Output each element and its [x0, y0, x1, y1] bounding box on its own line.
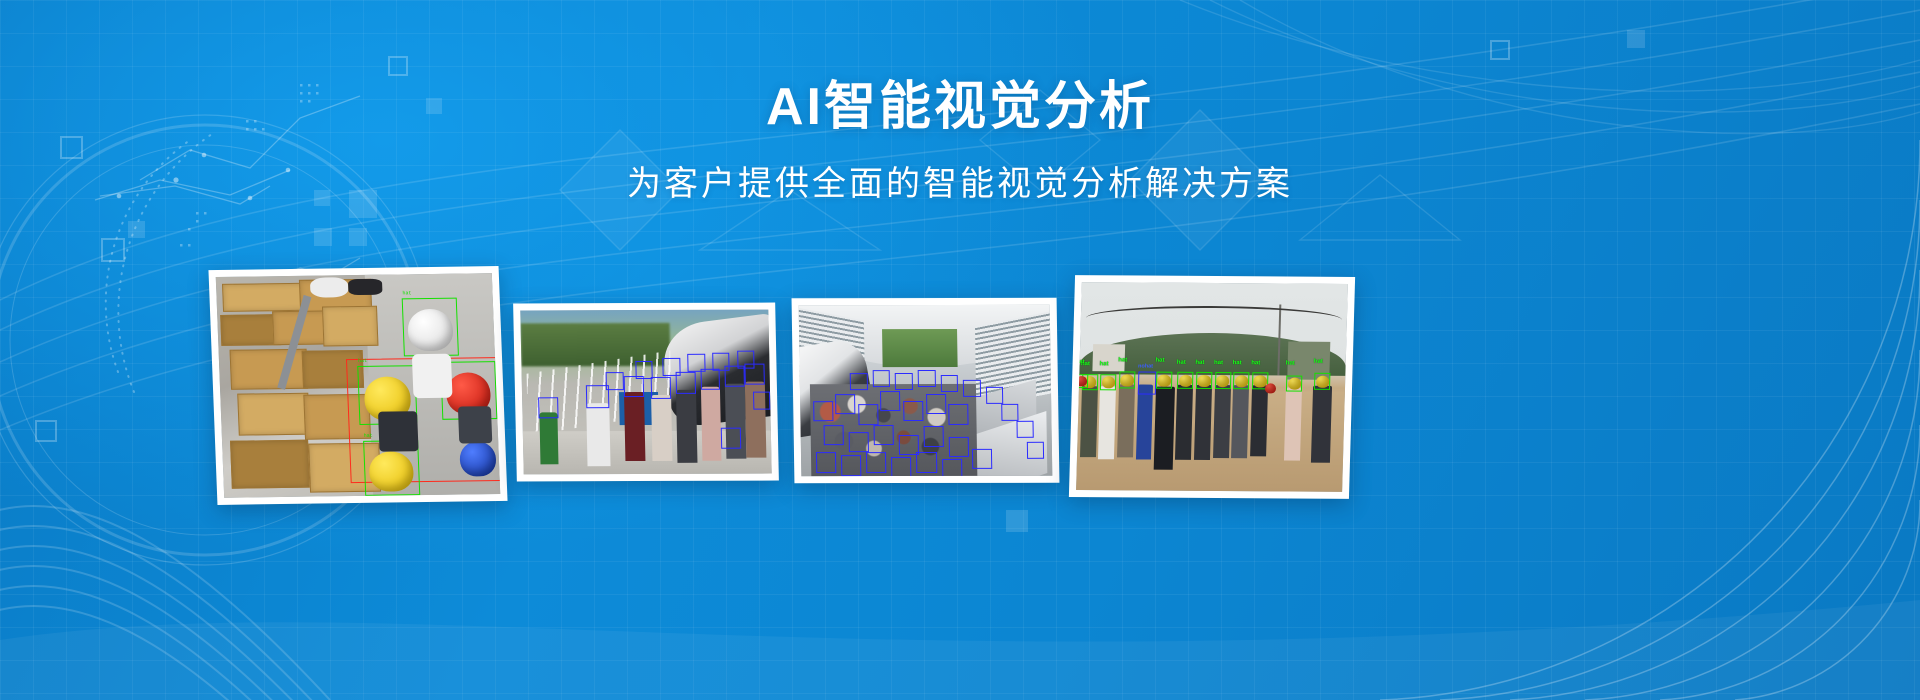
detection-box-head	[986, 387, 1004, 404]
detection-label-no-hat: nohat	[1138, 364, 1153, 370]
detection-box-head	[903, 401, 923, 422]
hatch-sweep-left	[0, 506, 330, 700]
detection-box-hat	[1076, 374, 1089, 389]
photo-1-content: hat hat hat hat	[216, 273, 501, 498]
detection-label: hat	[358, 357, 367, 363]
detection-label: hat	[1233, 360, 1242, 366]
detection-label: hat	[1286, 360, 1295, 366]
detection-box-head	[942, 459, 962, 476]
detection-box-no-hat	[1137, 372, 1156, 395]
detection-box-head	[538, 397, 558, 418]
worker	[1311, 386, 1332, 463]
photo-2-content	[520, 310, 771, 475]
detection-box-head	[873, 425, 893, 446]
detection-label: hat	[1099, 361, 1108, 367]
pedestrian	[624, 392, 645, 461]
bottom-wave	[0, 600, 1920, 700]
detection-label: hat	[1251, 360, 1260, 366]
white-bin	[310, 277, 349, 297]
detection-box-head	[1016, 421, 1034, 438]
detection-label: hat	[1118, 357, 1127, 363]
detection-box-head	[687, 354, 705, 372]
detection-box-hat	[1215, 372, 1231, 389]
detection-box-hat	[1314, 373, 1330, 390]
background-foliage	[882, 329, 958, 367]
photo-4-content: hat hat hat nohat hat hat hat	[1076, 282, 1348, 492]
detection-box-head	[606, 372, 624, 390]
page-subtitle: 为客户提供全面的智能视觉分析解决方案	[0, 164, 1920, 205]
pedestrian	[587, 404, 611, 466]
detection-label: hat	[364, 433, 373, 439]
worker-body	[378, 411, 418, 451]
worker-foreground	[1154, 387, 1175, 470]
detection-box-hat	[1100, 374, 1116, 391]
worker	[1175, 385, 1193, 460]
detection-box-head	[866, 452, 886, 473]
detection-box-head	[816, 452, 836, 473]
worker	[1250, 385, 1268, 456]
detection-label: hat	[1214, 360, 1223, 366]
detection-box-head	[895, 373, 913, 390]
detection-box-head	[753, 392, 771, 410]
detection-box-head	[841, 456, 861, 477]
detection-box-head	[721, 428, 741, 449]
detection-box-head	[924, 426, 944, 447]
detection-label: hat	[1155, 357, 1164, 363]
detection-label: hat	[402, 291, 411, 297]
photo-3-content	[799, 305, 1053, 476]
worker	[1098, 386, 1116, 459]
gallery-photo-3[interactable]	[792, 298, 1060, 483]
dark-object	[348, 279, 382, 295]
detection-box-hat	[1196, 372, 1212, 389]
worker	[1284, 388, 1302, 461]
detection-box-head	[963, 380, 981, 397]
detection-box-hat	[1233, 373, 1249, 390]
detection-box-head	[949, 437, 969, 458]
detection-box-hat	[1286, 375, 1302, 392]
detection-label: hat	[1177, 360, 1186, 366]
hard-hat-red	[1265, 383, 1276, 393]
worker	[1135, 384, 1153, 459]
detection-box-head	[918, 370, 936, 387]
detection-box-head	[835, 394, 855, 415]
detection-box-head	[712, 352, 730, 370]
detection-box-head	[1027, 442, 1045, 459]
detection-box-hat	[1119, 372, 1135, 389]
pedestrian	[676, 390, 697, 462]
worker	[1117, 384, 1135, 457]
detection-box-head	[823, 425, 843, 446]
gallery-photo-4[interactable]: hat hat hat nohat hat hat hat	[1069, 275, 1355, 499]
square-fill-8	[1627, 30, 1645, 48]
detection-box-head	[972, 449, 992, 470]
helmet-blue	[460, 441, 497, 477]
detection-box-head	[651, 377, 671, 398]
worker-body	[412, 353, 452, 398]
detection-box-head	[848, 432, 868, 453]
detection-box-head	[891, 457, 911, 476]
pedestrian	[540, 412, 558, 465]
gallery-photo-2[interactable]	[513, 303, 779, 482]
square-outline-5	[1490, 40, 1510, 60]
carton	[230, 349, 309, 390]
hero-text-block: AI智能视觉分析 为客户提供全面的智能视觉分析解决方案	[0, 78, 1920, 205]
detection-box-head	[872, 370, 890, 387]
detection-box-head	[948, 404, 968, 425]
gallery-photo-1[interactable]: hat hat hat hat	[208, 266, 507, 505]
square-fill-1	[128, 221, 145, 238]
photo-gallery: hat hat hat hat	[0, 258, 1920, 518]
detection-box-head	[813, 401, 833, 422]
detection-label: hat	[1076, 359, 1085, 365]
pedestrian	[700, 387, 721, 461]
detection-box-head	[858, 404, 878, 425]
carton	[237, 393, 310, 436]
detection-box-head	[1001, 404, 1019, 421]
worker	[1194, 385, 1212, 460]
worker	[1213, 385, 1231, 458]
square-outline-3	[388, 56, 408, 76]
detection-box-head	[737, 351, 755, 369]
detection-box-head	[850, 373, 868, 390]
detection-box-head	[940, 375, 958, 392]
detection-box-head	[926, 394, 946, 415]
detection-label: hat	[1195, 360, 1204, 366]
detection-box-head	[916, 452, 936, 473]
carton	[230, 439, 309, 489]
carton	[322, 306, 379, 347]
worker	[1080, 386, 1098, 457]
hero-banner: AI智能视觉分析 为客户提供全面的智能视觉分析解决方案	[0, 0, 1920, 700]
detection-box-hat	[1177, 372, 1193, 389]
detection-box-helmet: hat	[402, 298, 459, 356]
square-fill-4	[314, 228, 332, 246]
pedestrian	[651, 395, 672, 461]
detection-box-head	[663, 357, 681, 375]
worker-body	[458, 406, 493, 444]
detection-box-head	[880, 391, 900, 412]
detection-box-head	[635, 361, 653, 379]
page-title: AI智能视觉分析	[0, 78, 1920, 138]
square-fill-5	[349, 228, 367, 246]
detection-box-hat	[1156, 372, 1172, 389]
detection-label: hat	[1314, 359, 1323, 365]
worker	[1231, 385, 1249, 458]
